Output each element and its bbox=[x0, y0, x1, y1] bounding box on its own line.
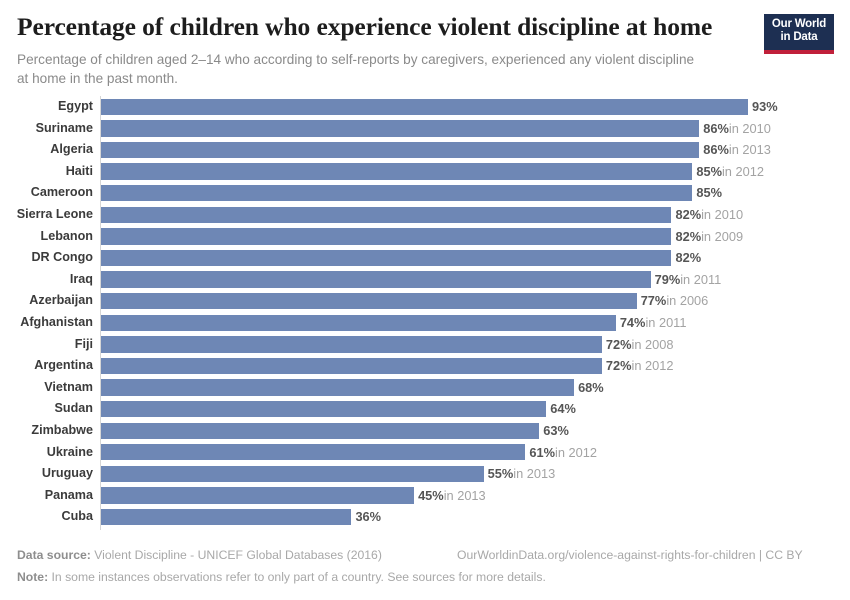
bar-row: Argentina72%in 2012 bbox=[0, 355, 850, 377]
bar-value-label: 36% bbox=[355, 506, 381, 528]
bar-track: 72%in 2012 bbox=[101, 355, 850, 377]
footer-note-row: Note: In some instances observations ref… bbox=[17, 567, 837, 589]
bar-row: Suriname86%in 2010 bbox=[0, 118, 850, 140]
bar-track: 82%in 2009 bbox=[101, 226, 850, 248]
bar-value-year: in 2011 bbox=[645, 315, 686, 330]
bar-track: 86%in 2013 bbox=[101, 139, 850, 161]
bar-row: Haiti85%in 2012 bbox=[0, 161, 850, 183]
bar-value-year: in 2009 bbox=[701, 229, 743, 244]
bar-row: Vietnam68% bbox=[0, 377, 850, 399]
bar-category-label: Zimbabwe bbox=[0, 420, 93, 442]
bar-row: Egypt93% bbox=[0, 96, 850, 118]
bar-value-label: 63% bbox=[543, 420, 569, 442]
chart-subtitle: Percentage of children aged 2–14 who acc… bbox=[17, 50, 707, 89]
bar-value-label: 79%in 2011 bbox=[655, 269, 722, 291]
bar-category-label: Ukraine bbox=[0, 442, 93, 464]
bar-value-label: 85% bbox=[696, 182, 722, 204]
bar-track: 82%in 2010 bbox=[101, 204, 850, 226]
bar-value-percent: 68% bbox=[578, 380, 604, 395]
bar-track: 63% bbox=[101, 420, 850, 442]
bar-category-label: Vietnam bbox=[0, 377, 93, 399]
bar-value-percent: 93% bbox=[752, 99, 778, 114]
bar-value-label: 74%in 2011 bbox=[620, 312, 687, 334]
bar-value-percent: 74% bbox=[620, 315, 646, 330]
bar[interactable] bbox=[101, 466, 484, 482]
bar-category-label: Azerbaijan bbox=[0, 290, 93, 312]
data-source-text: Violent Discipline - UNICEF Global Datab… bbox=[91, 548, 382, 562]
bar[interactable] bbox=[101, 444, 525, 460]
bar-value-year: in 2008 bbox=[632, 337, 674, 352]
bar-value-label: 82%in 2009 bbox=[675, 226, 743, 248]
bar-value-label: 61%in 2012 bbox=[529, 442, 597, 464]
bar[interactable] bbox=[101, 358, 602, 374]
bar-track: 64% bbox=[101, 398, 850, 420]
bar-value-label: 55%in 2013 bbox=[488, 463, 556, 485]
bar-category-label: Sierra Leone bbox=[0, 204, 93, 226]
bar-value-percent: 86% bbox=[703, 142, 729, 157]
bar[interactable] bbox=[101, 99, 748, 115]
bar-track: 61%in 2012 bbox=[101, 442, 850, 464]
bar-chart: Egypt93%Suriname86%in 2010Algeria86%in 2… bbox=[0, 96, 850, 532]
data-source-label: Data source: bbox=[17, 548, 91, 562]
bar[interactable] bbox=[101, 185, 692, 201]
bar-rows-container: Egypt93%Suriname86%in 2010Algeria86%in 2… bbox=[0, 96, 850, 528]
bar-value-year: in 2010 bbox=[729, 121, 771, 136]
bar-row: Ukraine61%in 2012 bbox=[0, 442, 850, 464]
bar-track: 77%in 2006 bbox=[101, 290, 850, 312]
bar-track: 85%in 2012 bbox=[101, 161, 850, 183]
bar-value-percent: 79% bbox=[655, 272, 681, 287]
bar-row: Algeria86%in 2013 bbox=[0, 139, 850, 161]
bar-category-label: Cameroon bbox=[0, 182, 93, 204]
bar-track: 82% bbox=[101, 247, 850, 269]
bar-value-label: 72%in 2008 bbox=[606, 334, 674, 356]
bar-value-year: in 2006 bbox=[666, 293, 708, 308]
bar-value-year: in 2012 bbox=[722, 164, 764, 179]
bar[interactable] bbox=[101, 379, 574, 395]
bar-value-label: 86%in 2013 bbox=[703, 139, 771, 161]
bar[interactable] bbox=[101, 315, 616, 331]
bar-value-label: 86%in 2010 bbox=[703, 118, 771, 140]
bar-category-label: Panama bbox=[0, 485, 93, 507]
bar-value-year: in 2013 bbox=[444, 488, 486, 503]
bar-category-label: Fiji bbox=[0, 334, 93, 356]
bar-row: Lebanon82%in 2009 bbox=[0, 226, 850, 248]
bar-track: 85% bbox=[101, 182, 850, 204]
bar-row: Afghanistan74%in 2011 bbox=[0, 312, 850, 334]
bar-value-label: 72%in 2012 bbox=[606, 355, 674, 377]
bar-value-year: in 2012 bbox=[555, 445, 597, 460]
bar-value-percent: 85% bbox=[696, 164, 722, 179]
bar-value-label: 82%in 2010 bbox=[675, 204, 743, 226]
logo-line-2: in Data bbox=[766, 31, 832, 44]
bar-row: Panama45%in 2013 bbox=[0, 485, 850, 507]
bar-category-label: Haiti bbox=[0, 161, 93, 183]
bar-value-percent: 86% bbox=[703, 121, 729, 136]
bar[interactable] bbox=[101, 120, 699, 136]
bar-value-year: in 2012 bbox=[632, 358, 674, 373]
bar-value-percent: 64% bbox=[550, 401, 576, 416]
bar-value-percent: 82% bbox=[675, 207, 701, 222]
bar-track: 36% bbox=[101, 506, 850, 528]
note-text: In some instances observations refer to … bbox=[48, 570, 546, 584]
our-world-in-data-logo[interactable]: Our World in Data bbox=[764, 14, 834, 54]
bar-value-label: 45%in 2013 bbox=[418, 485, 486, 507]
bar-track: 74%in 2011 bbox=[101, 312, 850, 334]
bar[interactable] bbox=[101, 336, 602, 352]
bar[interactable] bbox=[101, 271, 651, 287]
bar-value-label: 68% bbox=[578, 377, 604, 399]
footer-source-row: Data source: Violent Discipline - UNICEF… bbox=[17, 545, 837, 567]
chart-header: Percentage of children who experience vi… bbox=[17, 12, 833, 89]
bar-category-label: Uruguay bbox=[0, 463, 93, 485]
bar-category-label: Suriname bbox=[0, 118, 93, 140]
bar-value-percent: 45% bbox=[418, 488, 444, 503]
bar-value-percent: 82% bbox=[675, 229, 701, 244]
footer-note: Note: In some instances observations ref… bbox=[17, 567, 546, 587]
bar-category-label: Egypt bbox=[0, 96, 93, 118]
bar-row: Sudan64% bbox=[0, 398, 850, 420]
bar-value-percent: 85% bbox=[696, 185, 722, 200]
bar-row: Fiji72%in 2008 bbox=[0, 334, 850, 356]
bar-value-label: 85%in 2012 bbox=[696, 161, 764, 183]
bar-value-year: in 2013 bbox=[729, 142, 771, 157]
bar-value-label: 64% bbox=[550, 398, 576, 420]
bar-category-label: Sudan bbox=[0, 398, 93, 420]
bar-row: Cameroon85% bbox=[0, 182, 850, 204]
bar-track: 86%in 2010 bbox=[101, 118, 850, 140]
note-label: Note: bbox=[17, 570, 48, 584]
bar-value-percent: 61% bbox=[529, 445, 555, 460]
bar-row: Zimbabwe63% bbox=[0, 420, 850, 442]
bar-track: 93% bbox=[101, 96, 850, 118]
bar-value-year: in 2011 bbox=[680, 272, 721, 287]
bar-value-percent: 82% bbox=[675, 250, 701, 265]
bar-value-label: 77%in 2006 bbox=[641, 290, 709, 312]
bar[interactable] bbox=[101, 509, 351, 525]
bar-value-percent: 72% bbox=[606, 358, 632, 373]
bar-row: Cuba36% bbox=[0, 506, 850, 528]
bar-category-label: Iraq bbox=[0, 269, 93, 291]
bar[interactable] bbox=[101, 207, 671, 223]
bar-value-percent: 63% bbox=[543, 423, 569, 438]
chart-footer: Data source: Violent Discipline - UNICEF… bbox=[17, 545, 837, 589]
bar-value-percent: 36% bbox=[355, 509, 381, 524]
bar[interactable] bbox=[101, 163, 692, 179]
bar-row: DR Congo82% bbox=[0, 247, 850, 269]
bar-value-percent: 55% bbox=[488, 466, 514, 481]
bar-track: 45%in 2013 bbox=[101, 485, 850, 507]
bar-track: 79%in 2011 bbox=[101, 269, 850, 291]
bar-category-label: Lebanon bbox=[0, 226, 93, 248]
bar-value-year: in 2010 bbox=[701, 207, 743, 222]
chart-page: Percentage of children who experience vi… bbox=[0, 0, 850, 600]
logo-line-1: Our World bbox=[766, 18, 832, 31]
bar-value-percent: 77% bbox=[641, 293, 667, 308]
bar-category-label: Argentina bbox=[0, 355, 93, 377]
bar-track: 68% bbox=[101, 377, 850, 399]
bar[interactable] bbox=[101, 293, 637, 309]
bar-track: 55%in 2013 bbox=[101, 463, 850, 485]
bar-category-label: Afghanistan bbox=[0, 312, 93, 334]
bar-category-label: Cuba bbox=[0, 506, 93, 528]
bar[interactable] bbox=[101, 423, 539, 439]
bar-row: Iraq79%in 2011 bbox=[0, 269, 850, 291]
bar-row: Azerbaijan77%in 2006 bbox=[0, 290, 850, 312]
bar[interactable] bbox=[101, 228, 671, 244]
bar-value-year: in 2013 bbox=[513, 466, 555, 481]
bar-value-label: 82% bbox=[675, 247, 701, 269]
bar-value-percent: 72% bbox=[606, 337, 632, 352]
bar-track: 72%in 2008 bbox=[101, 334, 850, 356]
bar[interactable] bbox=[101, 250, 671, 266]
bar-row: Sierra Leone82%in 2010 bbox=[0, 204, 850, 226]
bar-category-label: DR Congo bbox=[0, 247, 93, 269]
owid-link[interactable]: OurWorldinData.org/violence-against-righ… bbox=[457, 545, 803, 565]
data-source: Data source: Violent Discipline - UNICEF… bbox=[17, 545, 382, 565]
bar[interactable] bbox=[101, 487, 414, 503]
page-title: Percentage of children who experience vi… bbox=[17, 12, 833, 42]
bar[interactable] bbox=[101, 142, 699, 158]
bar-value-label: 93% bbox=[752, 96, 778, 118]
bar-row: Uruguay55%in 2013 bbox=[0, 463, 850, 485]
bar[interactable] bbox=[101, 401, 546, 417]
bar-category-label: Algeria bbox=[0, 139, 93, 161]
